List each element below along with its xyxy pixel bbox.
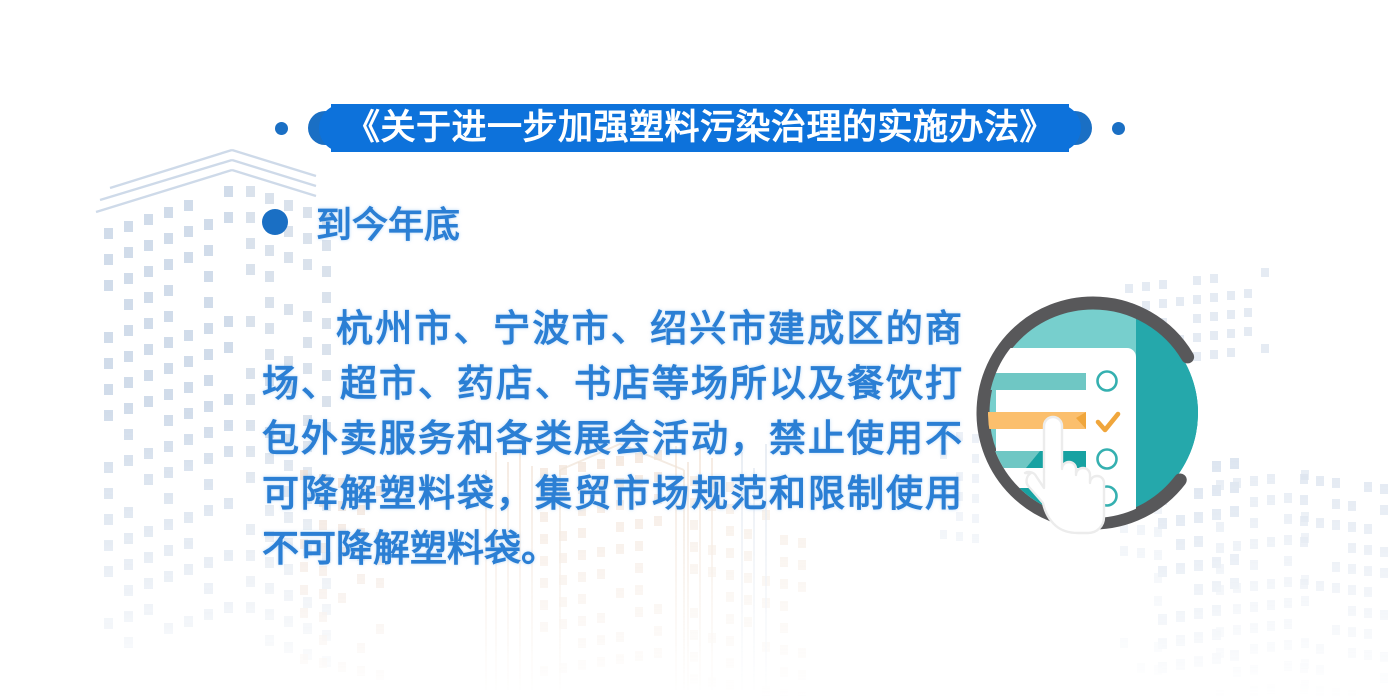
bullet-dot-icon: [262, 209, 288, 235]
checklist-bar-2: [976, 412, 1086, 429]
page-title: 《关于进一步加强塑料污染治理的实施办法》: [345, 104, 1055, 152]
body-paragraph: 杭州市、宁波市、绍兴市建成区的商场、超市、药店、书店等场所以及餐饮打包外卖服务和…: [262, 301, 962, 576]
subtitle-label: 到今年底: [316, 196, 460, 248]
slide-canvas: 《关于进一步加强塑料污染治理的实施办法》 到今年底 杭州市、宁波市、绍兴市建成区…: [0, 0, 1400, 700]
subtitle-row: 到今年底: [262, 196, 460, 248]
title-banner-row: 《关于进一步加强塑料污染治理的实施办法》: [0, 98, 1400, 158]
decor-dot-right-small: [1112, 122, 1125, 135]
checklist-bar-1: [986, 373, 1086, 390]
decor-dot-left-small: [275, 122, 288, 135]
slide-title-banner: 《关于进一步加强塑料污染治理的实施办法》: [331, 104, 1069, 152]
checklist-illustration: [968, 288, 1218, 538]
